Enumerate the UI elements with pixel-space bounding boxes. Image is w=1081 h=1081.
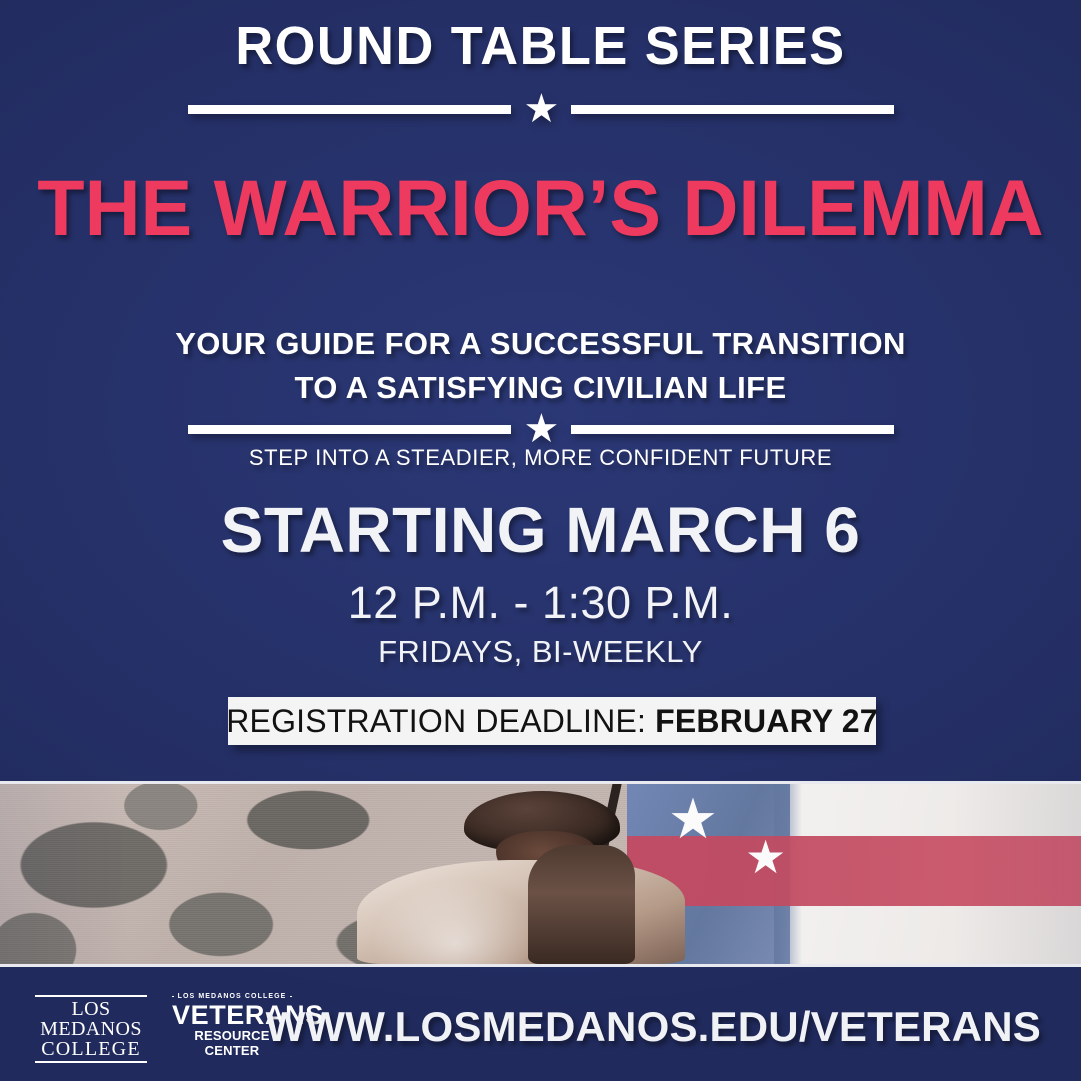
star-icon: ★ — [524, 92, 558, 126]
website-url[interactable]: WWW.LOSMEDANOS.EDU/VETERANS — [266, 1003, 1041, 1051]
registration-deadline-date: FEBRUARY 27 — [655, 703, 878, 740]
divider-middle: ★ — [188, 412, 894, 446]
registration-deadline-label: REGISTRATION DEADLINE: — [226, 703, 646, 740]
registration-deadline-badge: REGISTRATION DEADLINE: FEBRUARY 27 — [228, 697, 876, 745]
subtitle-line-1: YOUR GUIDE FOR A SUCCESSFUL TRANSITION — [0, 322, 1081, 366]
tagline: STEP INTO A STEADIER, MORE CONFIDENT FUT… — [0, 445, 1081, 471]
divider-rule-left — [188, 105, 511, 114]
subtitle: YOUR GUIDE FOR A SUCCESSFUL TRANSITION T… — [0, 322, 1081, 410]
vrc-dash-right — [290, 996, 292, 998]
divider-top: ★ — [188, 92, 894, 126]
vrc-logo-pretext-row: LOS MEDANOS COLLEGE — [172, 993, 292, 1000]
photo-composition: ★ ★ — [0, 784, 1081, 964]
series-title: ROUND TABLE SERIES — [16, 18, 1065, 75]
footer: LOS MEDANOS COLLEGE LOS MEDANOS COLLEGE … — [0, 967, 1081, 1081]
vrc-dash-left — [172, 996, 174, 998]
event-time: 12 P.M. - 1:30 P.M. — [0, 577, 1081, 629]
logo-rule-bottom — [35, 1061, 147, 1063]
logo-line-1: LOS MEDANOS — [35, 999, 147, 1039]
event-start-date: STARTING MARCH 6 — [0, 497, 1081, 564]
logo-rule-top — [35, 995, 147, 997]
los-medanos-college-logo: LOS MEDANOS COLLEGE — [35, 995, 147, 1063]
event-flyer: ROUND TABLE SERIES ★ THE WARRIOR’S DILEM… — [0, 0, 1081, 1081]
event-frequency: FRIDAYS, BI-WEEKLY — [0, 634, 1081, 670]
hero-photo-band: ★ ★ — [0, 781, 1081, 967]
logo-line-2: COLLEGE — [35, 1039, 147, 1059]
subtitle-line-2: TO A SATISFYING CIVILIAN LIFE — [0, 366, 1081, 410]
divider-rule-left — [188, 425, 511, 434]
divider-rule-right — [571, 105, 894, 114]
flag-star-icon: ★ — [745, 834, 786, 880]
page-title: THE WARRIOR’S DILEMMA — [11, 168, 1070, 249]
vrc-pretext: LOS MEDANOS COLLEGE — [178, 993, 287, 1000]
american-flag: ★ ★ — [627, 784, 1081, 964]
divider-rule-right — [571, 425, 894, 434]
soldier-figure — [335, 784, 692, 964]
soldier-arm — [528, 845, 635, 964]
star-icon: ★ — [524, 412, 558, 446]
soldier-uniform — [357, 860, 685, 964]
